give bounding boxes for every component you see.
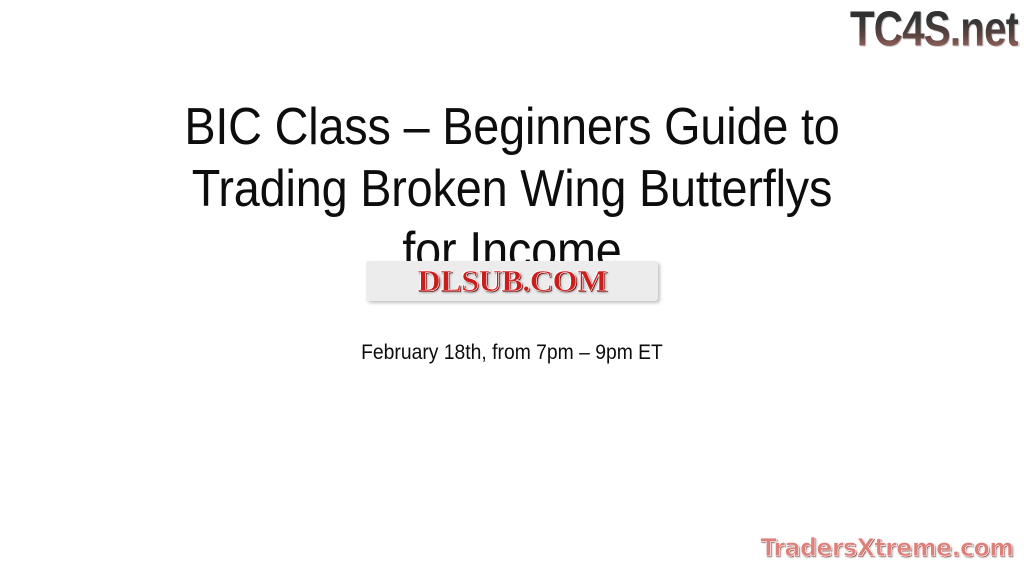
slide-title: BIC Class – Beginners Guide to Trading B… <box>112 96 912 282</box>
title-line-2: Trading Broken Wing Butterflys <box>152 158 872 220</box>
tc4s-watermark: TC4S.net <box>850 1 1018 56</box>
dlsub-watermark-text: DLSUB.COM <box>417 265 607 297</box>
tradersxtreme-watermark: TradersXtreme.com <box>760 533 1013 563</box>
subtitle-date-time: February 18th, from 7pm – 9pm ET <box>144 340 880 366</box>
dlsub-watermark-panel: DLSUB.COM <box>366 261 658 301</box>
presentation-slide: BIC Class – Beginners Guide to Trading B… <box>0 0 1024 576</box>
slide-subtitle: February 18th, from 7pm – 9pm ET <box>112 340 912 366</box>
title-line-1: BIC Class – Beginners Guide to <box>152 96 872 158</box>
